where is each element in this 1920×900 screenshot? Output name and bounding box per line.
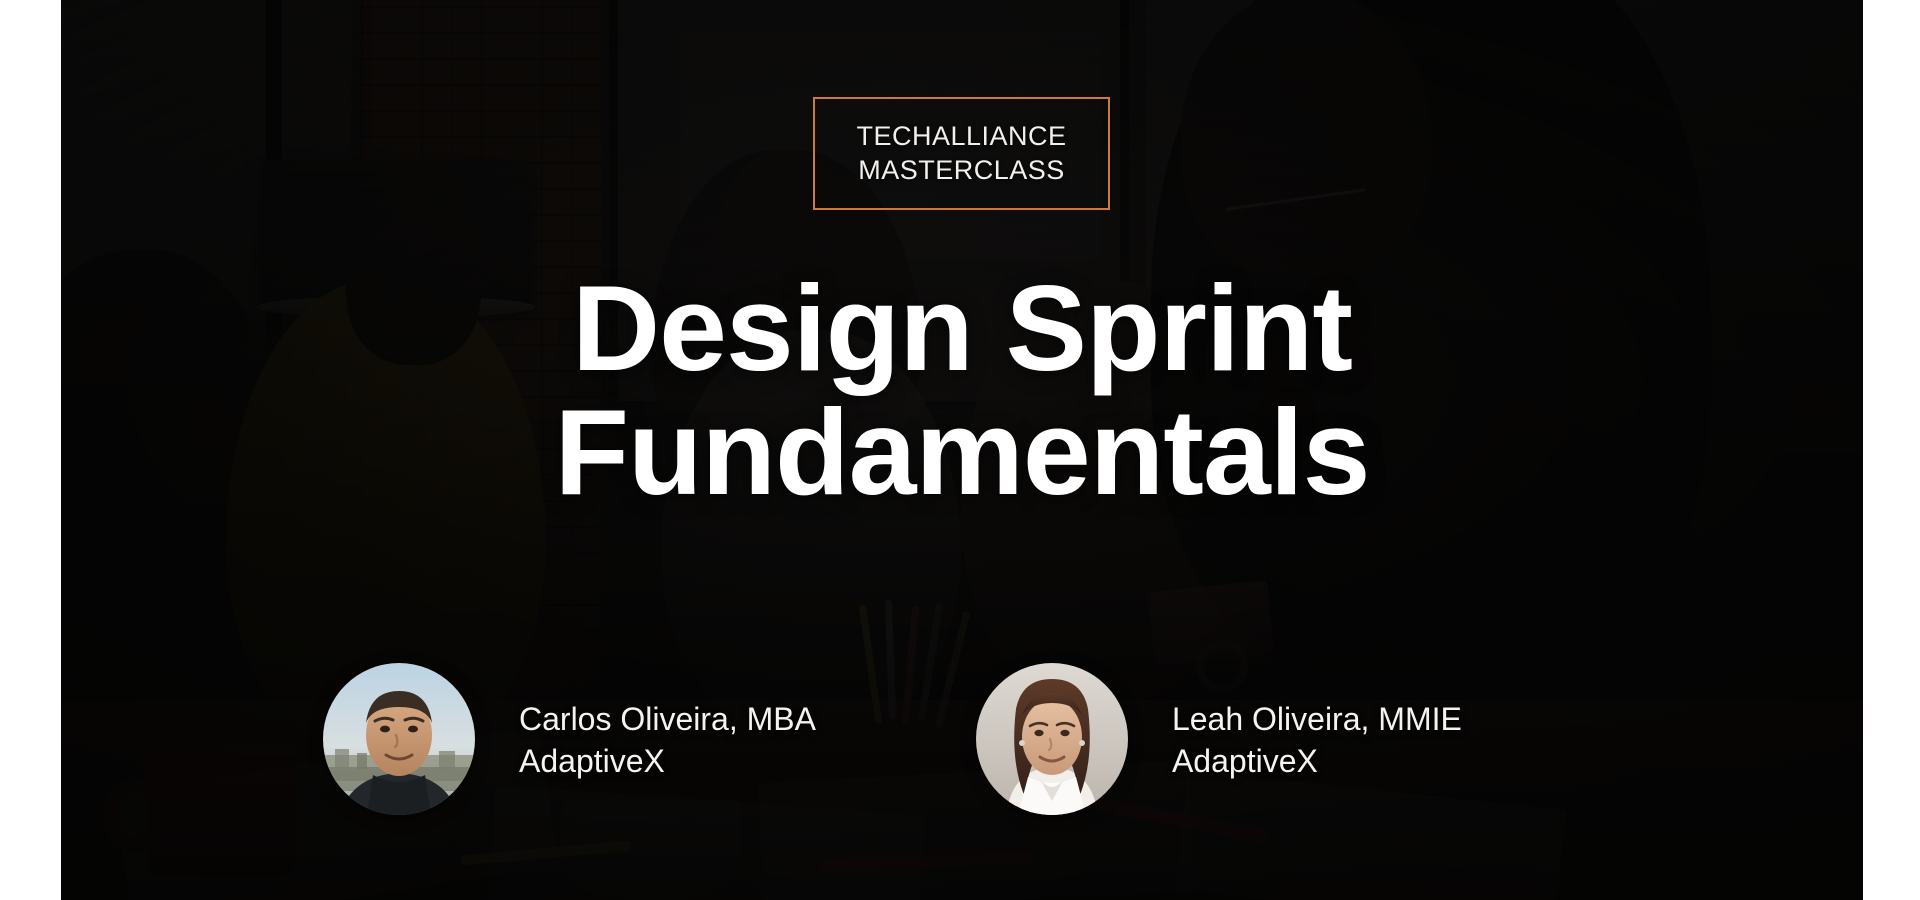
title-line-2: Fundamentals <box>61 390 1863 514</box>
masterclass-badge: TECHALLIANCE MASTERCLASS <box>813 97 1110 210</box>
badge-line-2: MASTERCLASS <box>858 155 1065 187</box>
slide-content: TECHALLIANCE MASTERCLASS Design Sprint F… <box>61 0 1863 900</box>
presenter-carlos: Carlos Oliveira, MBA AdaptiveX <box>323 663 816 815</box>
presentation-slide: TECHALLIANCE MASTERCLASS Design Sprint F… <box>61 0 1863 900</box>
title-line-1: Design Sprint <box>61 266 1863 390</box>
presenter-name: Leah Oliveira, MMIE <box>1172 699 1462 741</box>
presenter-leah: Leah Oliveira, MMIE AdaptiveX <box>976 663 1462 815</box>
presenter-name: Carlos Oliveira, MBA <box>519 699 816 741</box>
presenter-list: Carlos Oliveira, MBA AdaptiveX <box>323 663 1462 815</box>
page-title: Design Sprint Fundamentals <box>61 266 1863 515</box>
avatar-photo-carlos <box>323 663 475 815</box>
presenter-details: Leah Oliveira, MMIE AdaptiveX <box>1172 695 1462 782</box>
presenter-details: Carlos Oliveira, MBA AdaptiveX <box>519 695 816 782</box>
avatar-photo-leah <box>976 663 1128 815</box>
presenter-organization: AdaptiveX <box>1172 741 1462 783</box>
presenter-organization: AdaptiveX <box>519 741 816 783</box>
badge-line-1: TECHALLIANCE <box>856 121 1066 153</box>
